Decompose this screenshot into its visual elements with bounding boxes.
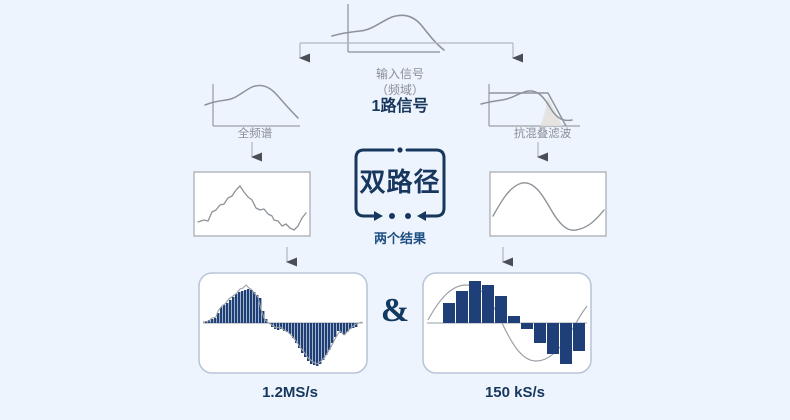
result-dot-2 <box>405 213 411 219</box>
one-channel-label: 1路信号 <box>340 100 460 114</box>
signal-splitter-connectors <box>300 43 513 58</box>
panel-low-rate-sampling <box>423 273 591 373</box>
input-signal-caption: 输入信号 （频域） <box>340 66 460 98</box>
badge-arrow-right <box>374 211 383 221</box>
badge-arrow-left <box>417 211 426 221</box>
input-signal-subtitle: （频域） <box>376 83 424 97</box>
dual-path-badge-label: 双路径 <box>345 166 455 198</box>
ampersand-joiner: & <box>375 292 415 330</box>
badge-top-dot <box>397 147 402 152</box>
sample-rate-right-label: 150 kS/s <box>440 386 590 400</box>
result-dot-1 <box>389 213 395 219</box>
input-signal-title: 输入信号 <box>376 67 424 81</box>
chart-anti-alias-filter <box>481 84 580 126</box>
anti-alias-filter-label: 抗混叠滤波 <box>485 127 600 141</box>
panel-filtered-sine-trace <box>490 172 606 236</box>
panel-to-result-arrows <box>287 247 503 262</box>
chart-input-signal <box>332 4 444 52</box>
chart-full-spectrum <box>205 84 300 126</box>
panel-high-rate-sampling <box>199 273 367 373</box>
full-spectrum-label: 全频谱 <box>200 127 310 141</box>
diagram-canvas: 输入信号 （频域） 1路信号 全频谱 抗混叠滤波 双路径 两个结果 & 1.2M… <box>0 0 790 420</box>
branch-to-panel-arrows <box>252 142 538 157</box>
two-results-label: 两个结果 <box>340 232 460 246</box>
dual-path-diagram-svg <box>0 0 790 420</box>
sample-rate-left-label: 1.2MS/s <box>215 386 365 400</box>
panel-full-spectrum-trace <box>194 172 310 236</box>
